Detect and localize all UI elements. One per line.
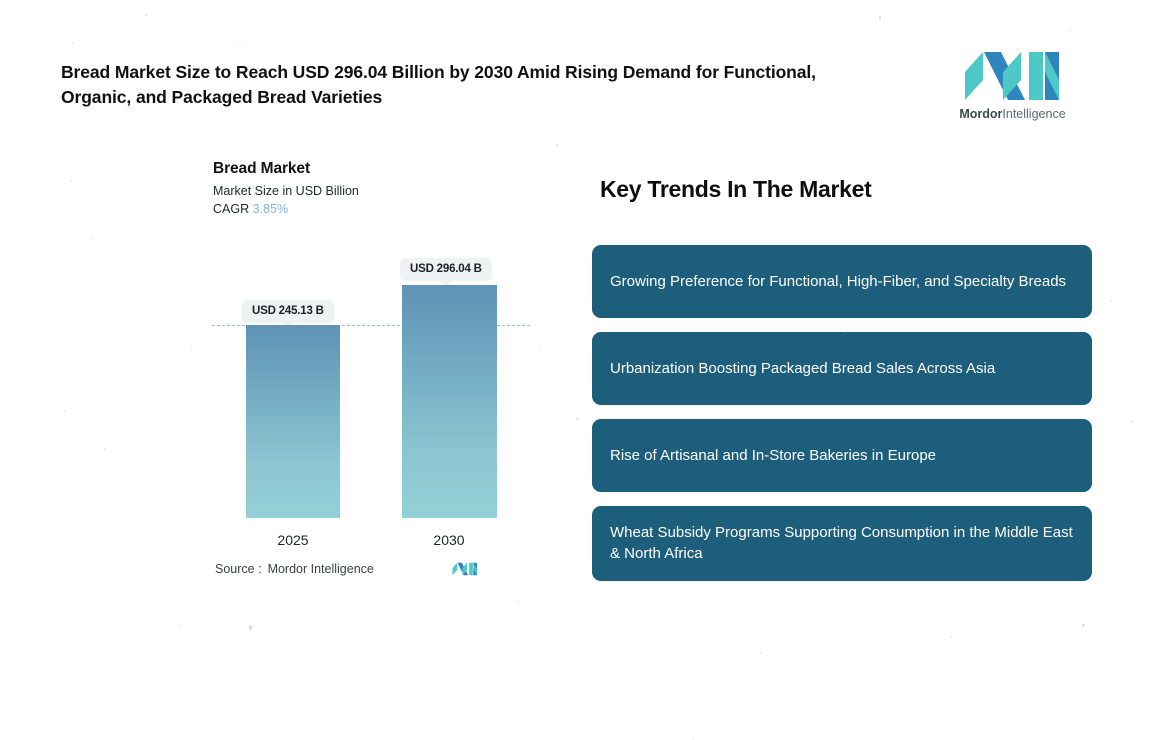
bar-chart-plot: USD 245.13 B USD 296.04 B 2025 2030: [200, 240, 550, 540]
page-title: Bread Market Size to Reach USD 296.04 Bi…: [61, 60, 861, 110]
x-axis-label-2030: 2030: [402, 532, 496, 548]
brand-name-bold: Mordor: [959, 107, 1002, 121]
chart-source: Source : Mordor Intelligence: [215, 562, 478, 576]
cagr-value: 3.85%: [253, 202, 288, 216]
chart-title: Bread Market: [213, 160, 543, 178]
chart-subtitle: Market Size in USD Billion: [213, 184, 543, 198]
key-trends-list: Growing Preference for Functional, High-…: [592, 245, 1092, 595]
cagr-label: CAGR: [213, 202, 249, 216]
mordor-intelligence-logo-icon: [963, 50, 1063, 102]
brand-wordmark: MordorIntelligence: [955, 107, 1070, 121]
bar-2025: [246, 325, 340, 518]
trend-card[interactable]: Urbanization Boosting Packaged Bread Sal…: [592, 332, 1092, 405]
trend-card[interactable]: Rise of Artisanal and In-Store Bakeries …: [592, 419, 1092, 492]
chart-cagr: CAGR 3.85%: [213, 202, 543, 216]
trend-card[interactable]: Wheat Subsidy Programs Supporting Consum…: [592, 506, 1092, 581]
mordor-intelligence-logo-icon-small: [452, 562, 478, 576]
brand-logo: MordorIntelligence: [955, 50, 1070, 121]
bar-value-label-2025: USD 245.13 B: [242, 300, 334, 323]
bar-value-label-2030: USD 296.04 B: [400, 258, 492, 281]
key-trends-title: Key Trends In The Market: [600, 176, 871, 203]
source-label: Source :: [215, 562, 262, 576]
source-value: Mordor Intelligence: [268, 562, 374, 576]
x-axis-label-2025: 2025: [246, 532, 340, 548]
trend-card[interactable]: Growing Preference for Functional, High-…: [592, 245, 1092, 318]
bar-2030: [402, 285, 497, 518]
brand-name-light: Intelligence: [1002, 107, 1065, 121]
chart-header: Bread Market Market Size in USD Billion …: [213, 160, 543, 216]
